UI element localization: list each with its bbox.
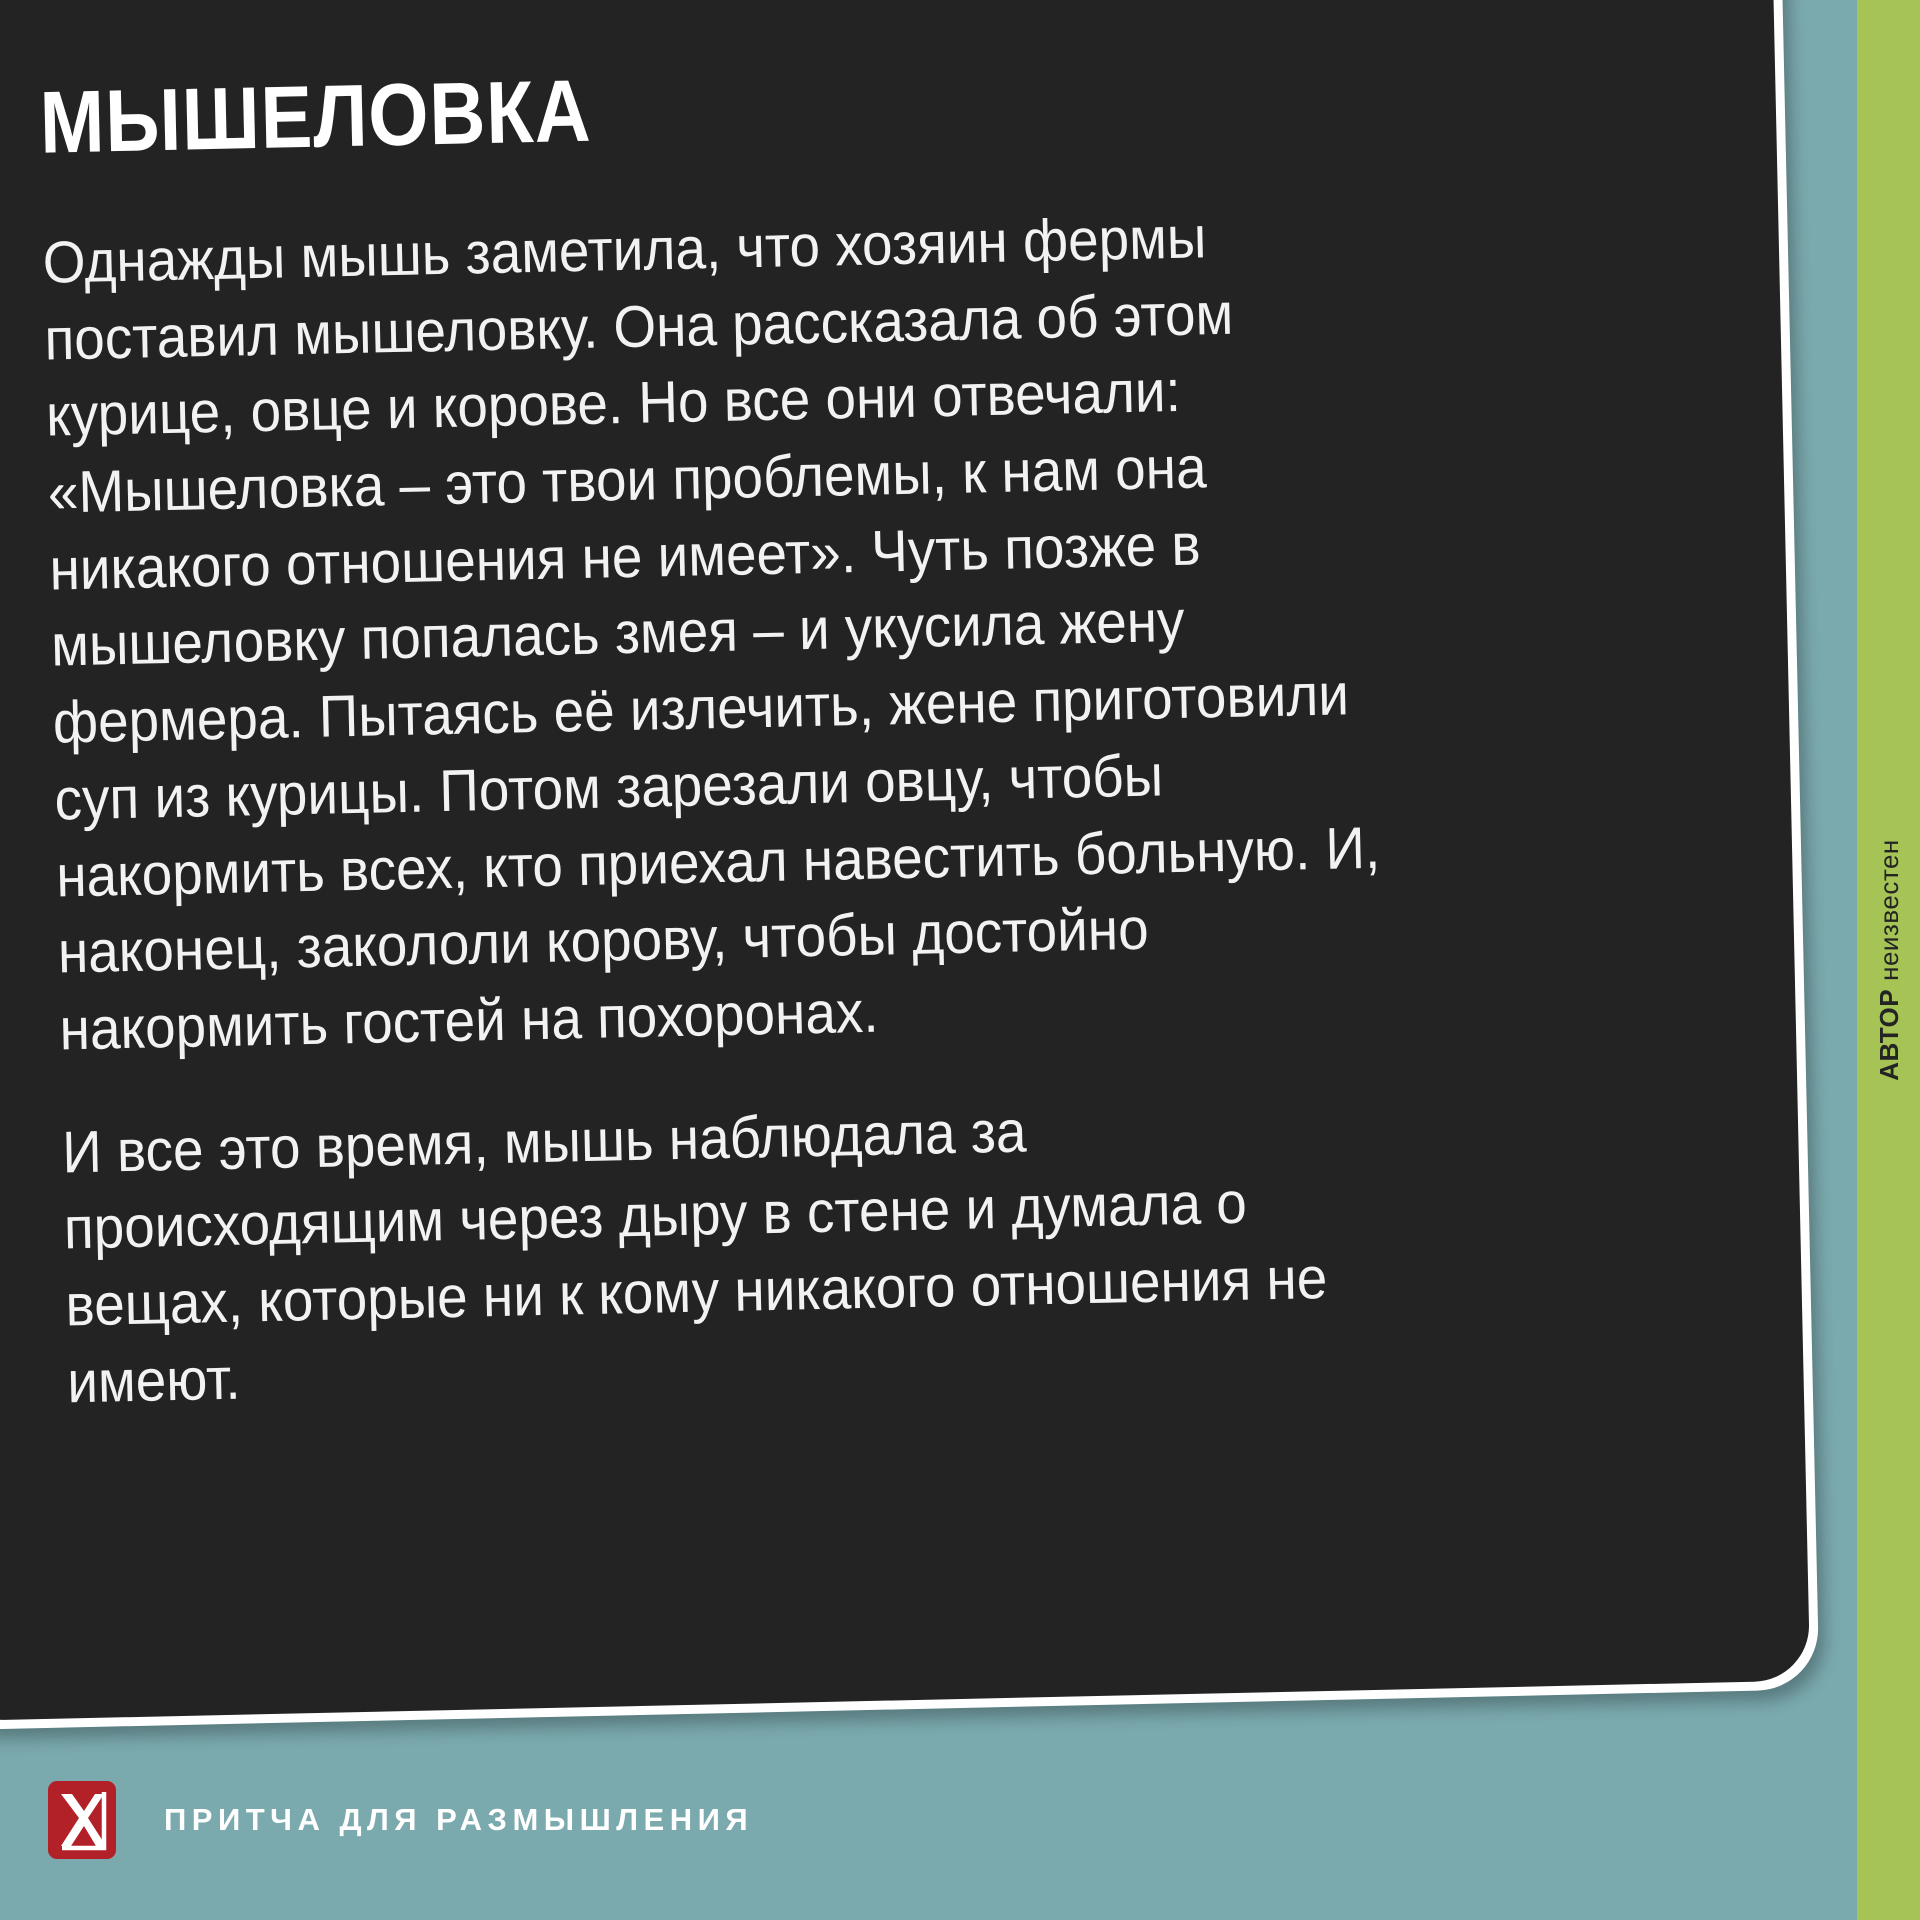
- story-paragraph-2: И все это время, мышь наблюдала за проис…: [61, 1084, 1425, 1420]
- author-value: неизвестен: [1876, 839, 1902, 981]
- card-content: МЫШЕЛОВКА Однажды мышь заметила, что хоз…: [39, 49, 1428, 1421]
- brand-logo-icon[interactable]: [48, 1781, 116, 1859]
- card-surface: МЫШЕЛОВКА Однажды мышь заметила, что хоз…: [0, 0, 1810, 1721]
- story-paragraph-1: Однажды мышь заметила, что хозяин фермы …: [42, 195, 1418, 1068]
- quote-card: МЫШЕЛОВКА Однажды мышь заметила, что хоз…: [0, 0, 1819, 1730]
- slide-canvas: МЫШЕЛОВКА Однажды мышь заметила, что хоз…: [0, 0, 1920, 1920]
- page-title: МЫШЕЛОВКА: [39, 53, 1237, 167]
- footer-caption: ПРИТЧА ДЛЯ РАЗМЫШЛЕНИЯ: [164, 1802, 753, 1838]
- footer-bar: ПРИТЧА ДЛЯ РАЗМЫШЛЕНИЯ: [0, 1720, 1905, 1920]
- author-label: АВТОР: [1876, 989, 1902, 1081]
- author-credit: АВТОР неизвестен: [1857, 0, 1920, 1920]
